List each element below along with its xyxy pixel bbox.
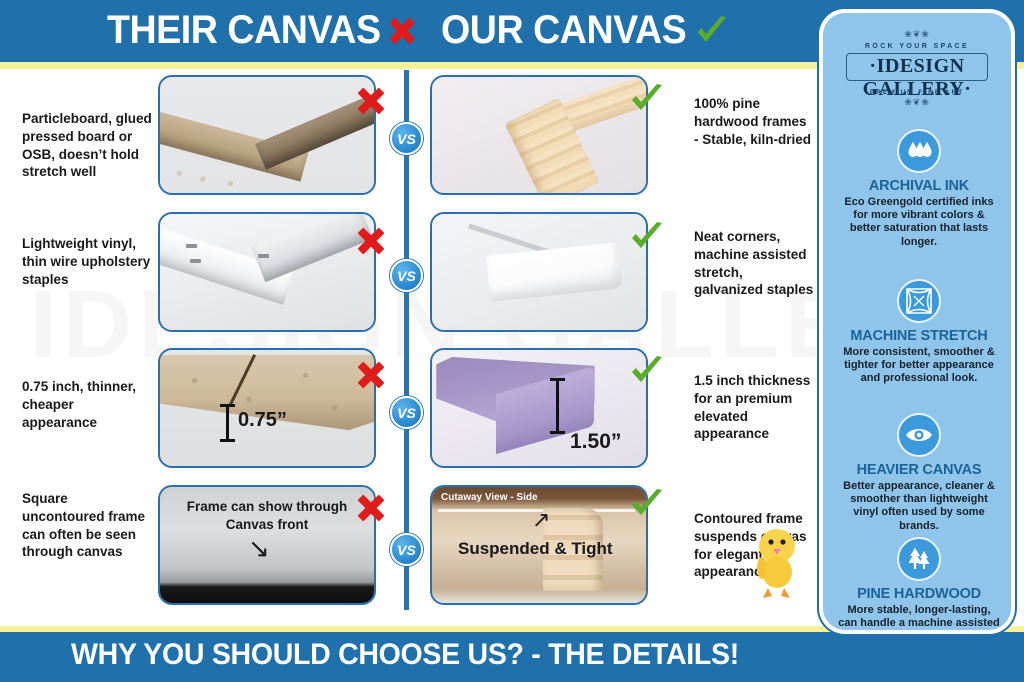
particleboard-frame-corner-photo [158,75,376,195]
thin-particleboard-edge-photo: 0.75” [158,348,376,468]
water-drops-icon [897,129,941,173]
x-mark-icon [390,18,414,44]
our-feature-text-1: 100% pine hardwood frames - Stable, kiln… [694,95,814,148]
vs-badge: VS [390,122,423,155]
check-mark-icon [696,16,728,46]
their-feature-text-3: 0.75 inch, thinner, cheaper appearance [22,378,152,431]
feature-description: Eco Greengold certified inks for more vi… [829,196,1009,249]
frame-show-caption-line-1: Frame can show through [160,499,374,516]
their-thickness-caption: 0.75” [238,409,287,432]
vinyl-corner-staples-photo [158,212,376,332]
vs-badge: VS [390,533,423,566]
feature-title: PINE HARDWOOD [829,586,1009,602]
check-mark-icon [630,222,664,252]
header-their-canvas-label: THEIR CANVAS [107,8,381,53]
feature-description: Better appearance, cleaner & smoother th… [829,480,1009,533]
our-feature-text-3: 1.5 inch thickness for an premium elevat… [694,372,814,443]
thickness-dimension-bar [226,404,229,442]
feature-title: MACHINE STRETCH [829,328,1009,344]
feature-machine-stretch: MACHINE STRETCH More consistent, smoothe… [829,279,1009,386]
header-their-canvas: THEIR CANVAS [107,8,414,53]
feature-pine-hardwood: PINE HARDWOOD More stable, longer-lastin… [829,537,1009,634]
header-our-canvas-label: OUR CANVAS [441,8,686,53]
their-feature-text-2: Lightweight vinyl, thin wire upholstery … [22,235,152,288]
logo-flourish-bottom: ❀❦❀ [834,97,1000,108]
feature-description: More consistent, smoother & tighter for … [829,346,1009,386]
our-feature-text-2: Neat corners, machine assisted stretch, … [694,228,814,299]
logo-flourish-top: ❀❦❀ [834,29,1000,40]
x-mark-icon [358,495,384,521]
infographic-page: IDESIGN GALLERY THEIR CANVAS OUR CANVAS … [0,0,1024,682]
footer-title: WHY YOU SHOULD CHOOSE US? - THE DETAILS! [20,638,790,672]
logo-tagline-bottom: PREMIUM FINE ART [834,89,1000,96]
down-right-arrow-icon: ↘ [248,535,270,561]
feature-archival-ink: ARCHIVAL INK Eco Greengold certified ink… [829,129,1009,249]
pine-trees-icon [897,537,941,581]
thick-purple-canvas-photo: 1.50” [430,348,648,468]
footer-bar: WHY YOU SHOULD CHOOSE US? - THE DETAILS! [0,632,1024,682]
cutaway-view-label: Cutaway View - Side [441,492,538,503]
feature-heavier-canvas: HEAVIER CANVAS Better appearance, cleane… [829,413,1009,533]
duckling-mascot [748,516,806,602]
our-thickness-caption: 1.50” [570,430,621,454]
x-mark-icon [358,362,384,388]
cutaway-side-view-photo: Cutaway View - Side ↗ Suspended & Tight [430,485,648,605]
brand-sidebar: ❀❦❀ ROCK YOUR SPACE ·IDESIGN GALLERY· PR… [819,9,1015,634]
their-feature-text-1: Particleboard, glued pressed board or OS… [22,110,152,181]
frame-show-caption-line-2: Canvas front [160,517,374,532]
logo-tagline-top: ROCK YOUR SPACE [834,43,1000,50]
vs-badge: VS [390,396,423,429]
pine-hardwood-frame-photo [430,75,648,195]
check-mark-icon [630,356,664,386]
feature-title: ARCHIVAL INK [829,178,1009,194]
feature-description: More stable, longer-lasting, can handle … [829,604,1009,634]
eye-icon [897,413,941,457]
vs-badge: VS [390,259,423,292]
frame-showing-through-canvas-photo: Frame can show through Canvas front ↘ [158,485,376,605]
thickness-dimension-bar [556,378,559,434]
check-mark-icon [630,84,664,114]
stretch-canvas-icon [897,279,941,323]
x-mark-icon [358,88,384,114]
brand-logo: ❀❦❀ ROCK YOUR SPACE ·IDESIGN GALLERY· PR… [834,27,1000,105]
check-mark-icon [630,489,664,519]
suspended-tight-caption: Suspended & Tight [458,539,613,559]
header-our-canvas: OUR CANVAS [441,8,728,53]
neat-corner-canvas-photo [430,212,648,332]
their-feature-text-4: Square uncontoured frame can often be se… [22,490,152,561]
up-right-arrow-icon: ↗ [532,509,550,531]
x-mark-icon [358,228,384,254]
feature-title: HEAVIER CANVAS [829,462,1009,478]
